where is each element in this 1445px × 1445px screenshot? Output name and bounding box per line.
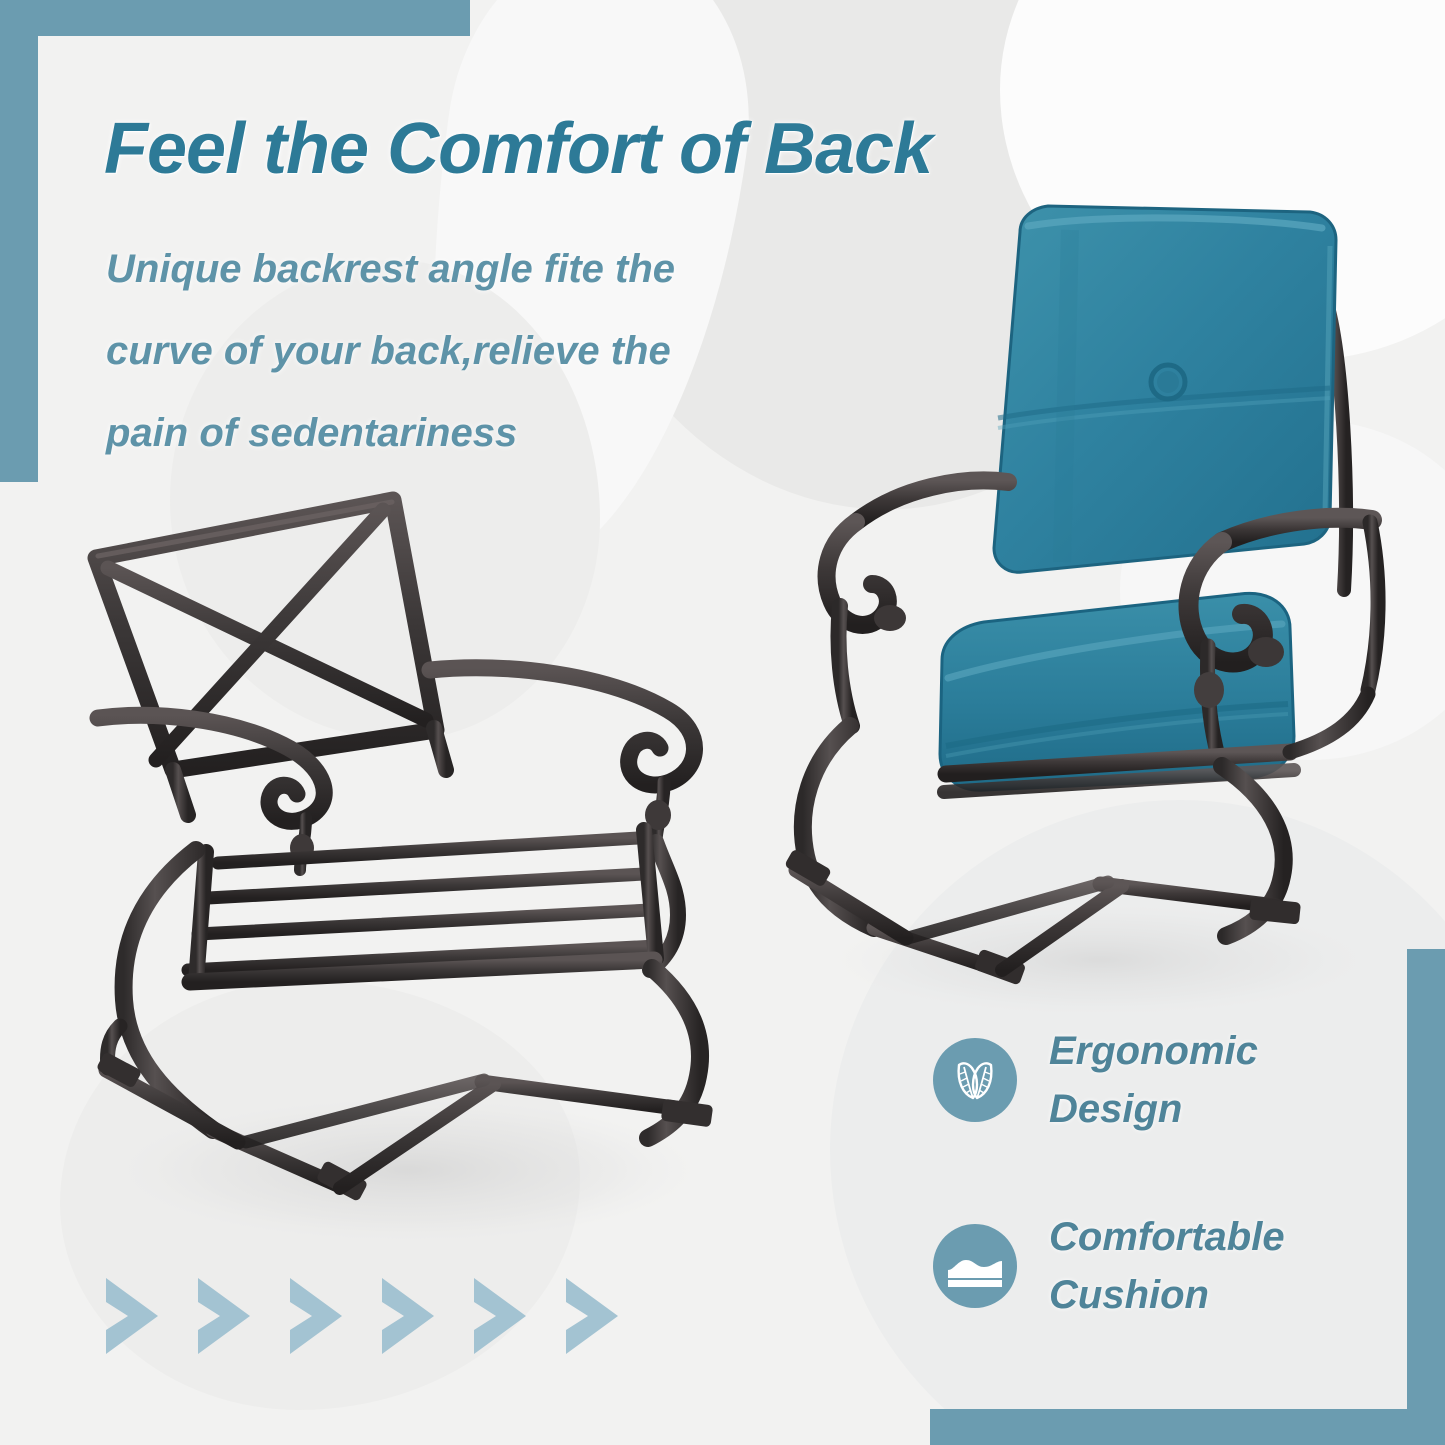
- subcopy-line: curve of your back,relieve the: [106, 310, 866, 392]
- cushion-icon: [933, 1224, 1017, 1308]
- chevron-arrow-strip: [100, 1272, 632, 1360]
- corner-bracket-top-left-vertical: [0, 0, 38, 482]
- product-feature-poster: Feel the Comfort of Back Unique backrest…: [0, 0, 1445, 1445]
- subcopy-line: Unique backrest angle fite the: [106, 228, 866, 310]
- right-chevron-icon: [468, 1272, 540, 1360]
- feature-label: Ergonomic Design: [1049, 1022, 1258, 1138]
- feature-item-ergonomic-design: Ergonomic Design: [933, 1022, 1258, 1138]
- product-image-metal-chair-frame: [78, 470, 728, 1260]
- product-image-cushioned-patio-chair: [770, 170, 1430, 1020]
- corner-bracket-top-left-horizontal: [0, 0, 470, 36]
- subcopy-line: pain of sedentariness: [106, 392, 866, 474]
- corner-bracket-bottom-right-vertical: [1407, 949, 1445, 1445]
- leaf-icon: [933, 1038, 1017, 1122]
- right-chevron-icon: [560, 1272, 632, 1360]
- subcopy-block: Unique backrest angle fite the curve of …: [106, 228, 866, 474]
- right-chevron-icon: [192, 1272, 264, 1360]
- right-chevron-icon: [100, 1272, 172, 1360]
- feature-label: Comfortable Cushion: [1049, 1208, 1285, 1324]
- feature-item-comfortable-cushion: Comfortable Cushion: [933, 1208, 1285, 1324]
- right-chevron-icon: [284, 1272, 356, 1360]
- right-chevron-icon: [376, 1272, 448, 1360]
- corner-bracket-bottom-right-horizontal: [930, 1409, 1445, 1445]
